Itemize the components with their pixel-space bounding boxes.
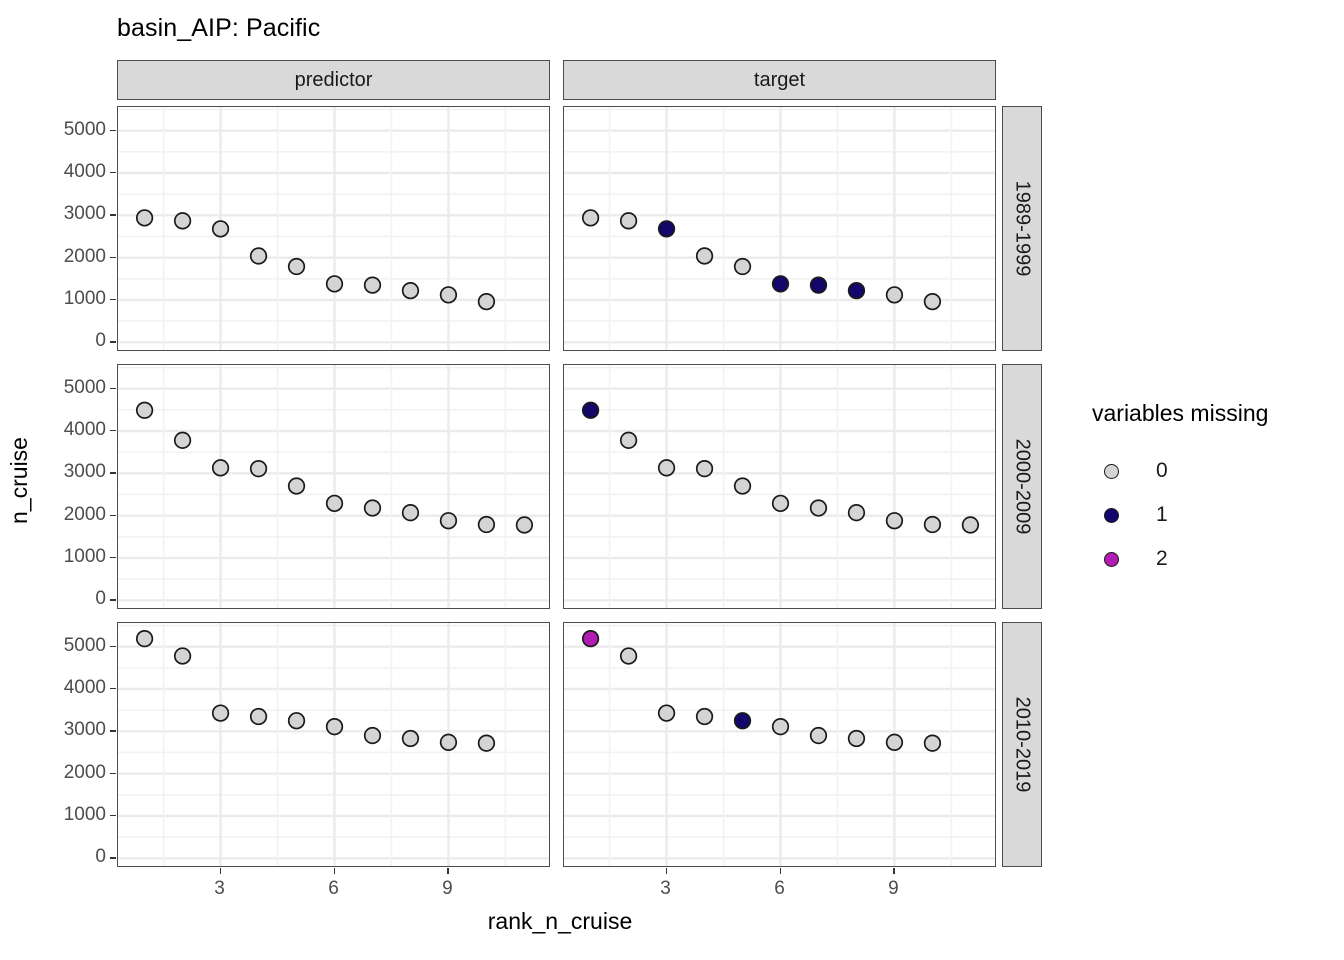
facet-strip-label: 1989-1999 bbox=[1011, 181, 1034, 277]
data-point bbox=[479, 517, 495, 533]
y-tick-label: 4000 bbox=[26, 677, 106, 699]
y-tick-label: 0 bbox=[26, 330, 106, 352]
data-point bbox=[327, 276, 343, 292]
y-tick-mark bbox=[110, 472, 116, 473]
data-point bbox=[925, 735, 941, 751]
data-point bbox=[811, 728, 827, 744]
y-tick-mark bbox=[110, 599, 116, 600]
facet-strip-row-2010-2019: 2010-2019 bbox=[1002, 622, 1042, 867]
facet-strip-row-2000-2009: 2000-2009 bbox=[1002, 364, 1042, 609]
data-point bbox=[137, 210, 153, 226]
y-tick-label: 2000 bbox=[26, 246, 106, 268]
legend-dot-icon bbox=[1104, 464, 1119, 479]
data-point bbox=[735, 259, 751, 275]
panel-target-1989-1999 bbox=[563, 106, 996, 351]
data-point bbox=[175, 648, 191, 664]
y-tick-mark bbox=[110, 214, 116, 215]
data-point bbox=[887, 513, 903, 529]
y-tick-label: 4000 bbox=[26, 419, 106, 441]
y-tick-label: 3000 bbox=[26, 203, 106, 225]
y-tick-mark bbox=[110, 688, 116, 689]
data-point bbox=[251, 461, 267, 477]
panel-predictor-2010-2019 bbox=[117, 622, 550, 867]
y-tick-mark bbox=[110, 557, 116, 558]
data-point bbox=[517, 517, 533, 533]
y-tick-mark bbox=[110, 857, 116, 858]
data-point bbox=[441, 513, 457, 529]
x-tick-mark bbox=[447, 868, 448, 874]
panel-predictor-1989-1999 bbox=[117, 106, 550, 351]
y-tick-mark bbox=[110, 430, 116, 431]
data-point bbox=[887, 287, 903, 303]
y-tick-mark bbox=[110, 730, 116, 731]
data-point bbox=[773, 496, 789, 512]
y-tick-label: 2000 bbox=[26, 504, 106, 526]
x-tick-mark bbox=[666, 868, 667, 874]
facet-strip-column-target: target bbox=[563, 60, 996, 100]
data-point bbox=[479, 735, 495, 751]
panel-target-2010-2019 bbox=[563, 622, 996, 867]
legend: variables missing 012 bbox=[1092, 400, 1332, 581]
legend-item-2[interactable]: 2 bbox=[1092, 537, 1332, 581]
legend-item-0[interactable]: 0 bbox=[1092, 449, 1332, 493]
data-point bbox=[811, 500, 827, 516]
data-point bbox=[327, 496, 343, 512]
data-point bbox=[925, 517, 941, 533]
x-tick-mark bbox=[780, 868, 781, 874]
data-point bbox=[213, 705, 229, 721]
data-point bbox=[621, 213, 637, 229]
data-point bbox=[289, 713, 305, 729]
data-point bbox=[441, 287, 457, 303]
x-tick-label: 9 bbox=[442, 878, 453, 900]
data-point bbox=[137, 631, 153, 647]
x-tick-mark bbox=[893, 868, 894, 874]
legend-label: 1 bbox=[1156, 503, 1168, 527]
legend-label: 2 bbox=[1156, 547, 1168, 571]
data-point bbox=[251, 248, 267, 264]
data-points bbox=[583, 210, 940, 309]
data-point bbox=[441, 735, 457, 751]
y-tick-mark bbox=[110, 130, 116, 131]
y-tick-mark bbox=[110, 299, 116, 300]
gridlines bbox=[564, 365, 996, 609]
data-point bbox=[735, 478, 751, 494]
data-point bbox=[697, 248, 713, 264]
data-points bbox=[137, 210, 494, 309]
data-point bbox=[365, 277, 381, 293]
x-tick-label: 3 bbox=[660, 878, 671, 900]
data-point bbox=[289, 478, 305, 494]
data-point bbox=[251, 709, 267, 725]
data-point bbox=[659, 221, 675, 237]
x-tick-mark bbox=[220, 868, 221, 874]
y-tick-label: 0 bbox=[26, 846, 106, 868]
y-tick-label: 3000 bbox=[26, 719, 106, 741]
data-point bbox=[479, 294, 495, 310]
data-point bbox=[621, 648, 637, 664]
legend-key bbox=[1092, 552, 1130, 567]
x-tick-mark bbox=[334, 868, 335, 874]
data-point bbox=[213, 221, 229, 237]
facet-strip-label: 2010-2019 bbox=[1011, 697, 1034, 793]
data-points bbox=[583, 631, 940, 751]
data-point bbox=[289, 259, 305, 275]
x-tick-label: 6 bbox=[774, 878, 785, 900]
legend-items: 012 bbox=[1092, 449, 1332, 581]
data-point bbox=[773, 719, 789, 735]
data-point bbox=[659, 460, 675, 476]
page-title: basin_AIP: Pacific bbox=[117, 14, 320, 43]
data-point bbox=[659, 705, 675, 721]
data-point bbox=[175, 213, 191, 229]
legend-key bbox=[1092, 508, 1130, 523]
data-point bbox=[887, 735, 903, 751]
facet-strip-label: target bbox=[754, 69, 805, 92]
facet-strip-label: 2000-2009 bbox=[1011, 439, 1034, 535]
data-point bbox=[365, 500, 381, 516]
y-tick-mark bbox=[110, 773, 116, 774]
facet-strip-column-predictor: predictor bbox=[117, 60, 550, 100]
y-tick-label: 1000 bbox=[26, 288, 106, 310]
legend-title: variables missing bbox=[1092, 400, 1332, 427]
data-point bbox=[963, 517, 979, 533]
legend-item-1[interactable]: 1 bbox=[1092, 493, 1332, 537]
data-point bbox=[773, 276, 789, 292]
x-axis-title: rank_n_cruise bbox=[117, 908, 1003, 935]
legend-label: 0 bbox=[1156, 459, 1168, 483]
data-point bbox=[849, 505, 865, 521]
data-point bbox=[137, 402, 153, 418]
gridlines bbox=[118, 365, 550, 609]
data-point bbox=[621, 433, 637, 449]
data-point bbox=[327, 719, 343, 735]
legend-dot-icon bbox=[1104, 552, 1119, 567]
data-point bbox=[849, 283, 865, 299]
y-tick-label: 2000 bbox=[26, 762, 106, 784]
facet-strip-label: predictor bbox=[295, 69, 373, 92]
x-tick-label: 6 bbox=[328, 878, 339, 900]
legend-key bbox=[1092, 464, 1130, 479]
data-point bbox=[583, 402, 599, 418]
y-tick-label: 1000 bbox=[26, 546, 106, 568]
y-tick-label: 3000 bbox=[26, 461, 106, 483]
data-point bbox=[697, 709, 713, 725]
y-tick-label: 5000 bbox=[26, 635, 106, 657]
x-tick-label: 3 bbox=[214, 878, 225, 900]
data-point bbox=[213, 460, 229, 476]
data-point bbox=[403, 505, 419, 521]
y-tick-mark bbox=[110, 646, 116, 647]
data-point bbox=[403, 731, 419, 747]
data-point bbox=[583, 210, 599, 226]
data-point bbox=[403, 283, 419, 299]
data-point bbox=[697, 461, 713, 477]
data-points bbox=[137, 631, 494, 751]
legend-dot-icon bbox=[1104, 508, 1119, 523]
y-tick-mark bbox=[110, 815, 116, 816]
facet-strip-row-1989-1999: 1989-1999 bbox=[1002, 106, 1042, 351]
y-tick-mark bbox=[110, 515, 116, 516]
data-point bbox=[583, 631, 599, 647]
x-tick-label: 9 bbox=[888, 878, 899, 900]
y-tick-mark bbox=[110, 388, 116, 389]
y-tick-mark bbox=[110, 257, 116, 258]
y-tick-label: 0 bbox=[26, 588, 106, 610]
y-tick-label: 4000 bbox=[26, 161, 106, 183]
data-point bbox=[735, 713, 751, 729]
data-point bbox=[925, 294, 941, 310]
panel-predictor-2000-2009 bbox=[117, 364, 550, 609]
y-tick-label: 1000 bbox=[26, 804, 106, 826]
y-tick-mark bbox=[110, 341, 116, 342]
data-point bbox=[365, 728, 381, 744]
facet-panel-grid: predictortarget1989-19992000-20092010-20… bbox=[117, 60, 1043, 866]
y-tick-mark bbox=[110, 172, 116, 173]
panel-target-2000-2009 bbox=[563, 364, 996, 609]
data-point bbox=[811, 277, 827, 293]
data-point bbox=[849, 731, 865, 747]
y-tick-label: 5000 bbox=[26, 377, 106, 399]
y-tick-label: 5000 bbox=[26, 119, 106, 141]
data-point bbox=[175, 433, 191, 449]
